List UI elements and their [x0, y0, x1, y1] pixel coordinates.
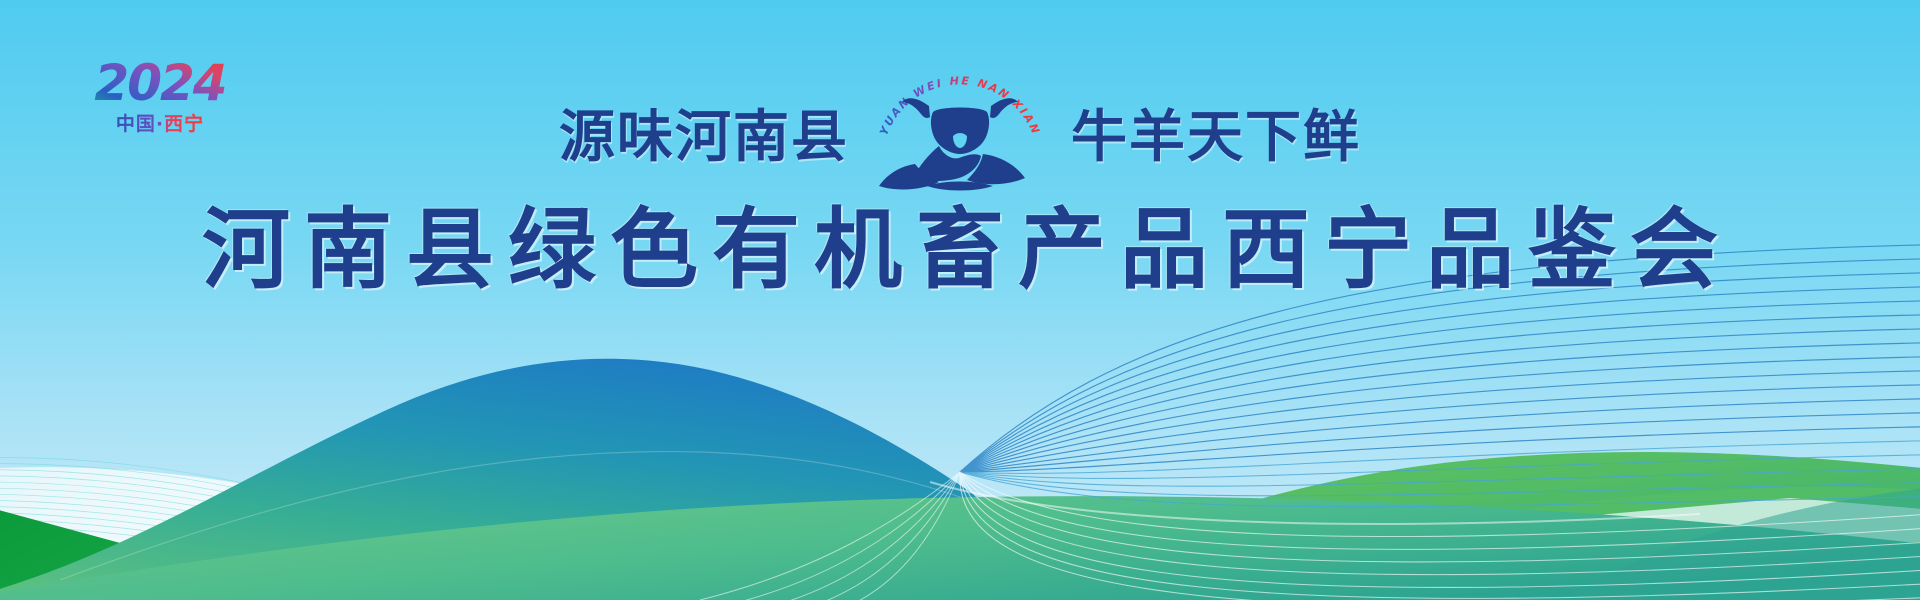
brand-name-left: 源味河南县	[559, 110, 849, 166]
yak-emblem: YUAN WEI HE NAN XIAN	[867, 62, 1053, 192]
event-banner: 2024 中国·西宁 源味河南县 YUAN WEI HE	[0, 0, 1920, 600]
brand-name-right: 牛羊天下鲜	[1071, 110, 1361, 166]
brand-emblem-row: 源味河南县 YUAN WEI HE NAN XIAN	[0, 62, 1920, 192]
page-title: 河南县绿色有机畜产品西宁品鉴会	[0, 204, 1920, 296]
yak-emblem-svg: YUAN WEI HE NAN XIAN	[867, 62, 1053, 192]
